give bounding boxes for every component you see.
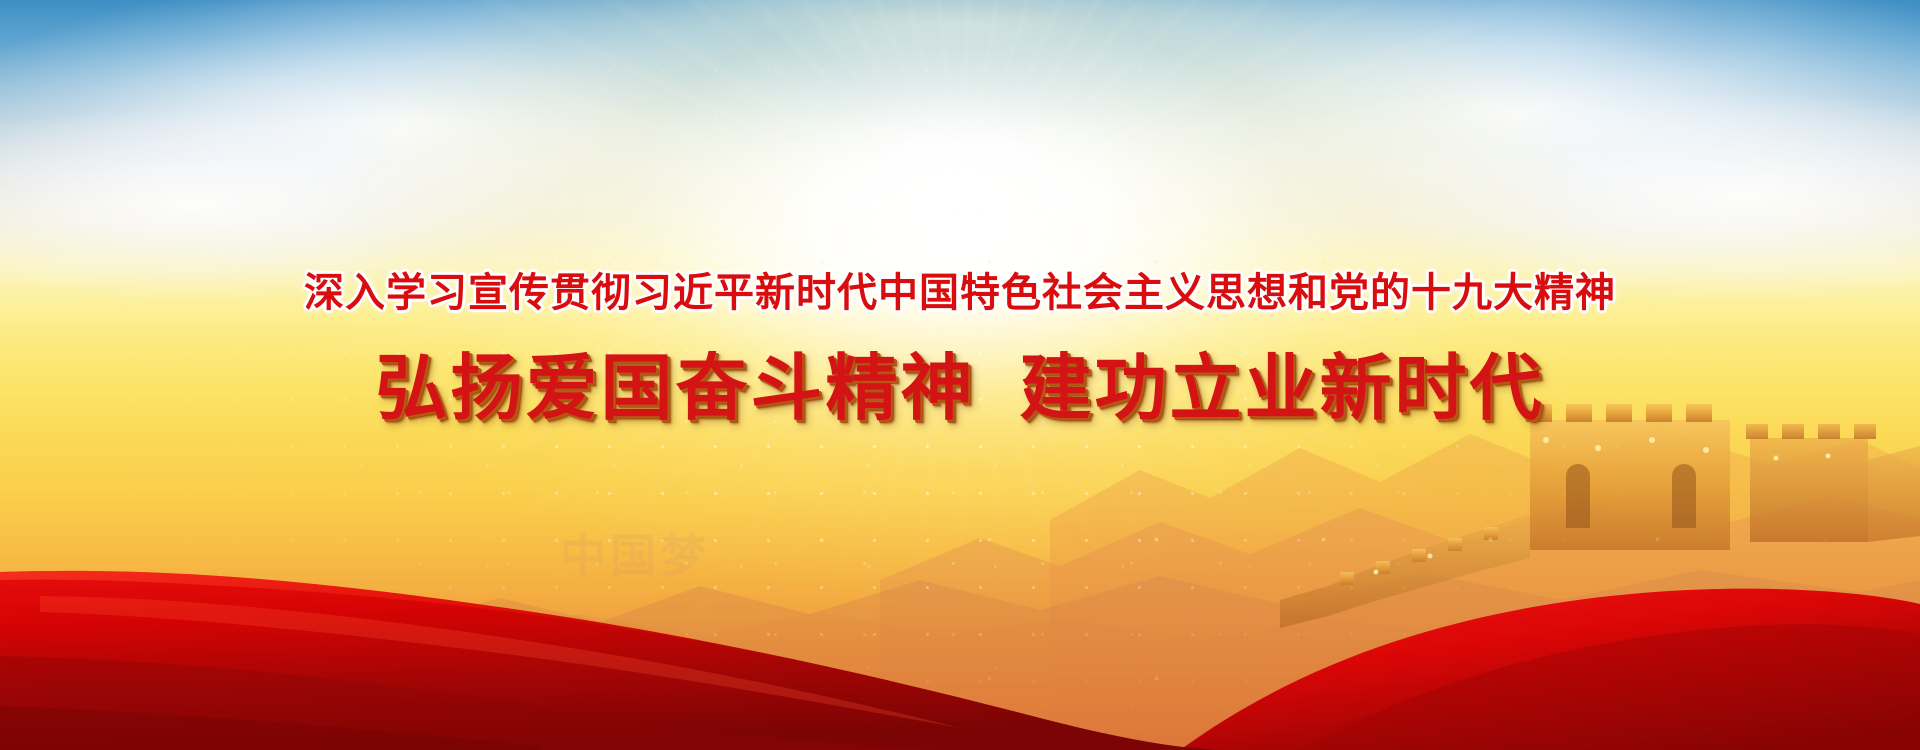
main-slogan-line: 弘扬爱国奋斗精神建功立业新时代 — [0, 351, 1920, 427]
red-silk-ribbon — [0, 420, 1920, 750]
headline-block: 深入学习宣传贯彻习近平新时代中国特色社会主义思想和党的十九大精神 弘扬爱国奋斗精… — [0, 270, 1920, 427]
subtitle-line: 深入学习宣传贯彻习近平新时代中国特色社会主义思想和党的十九大精神 — [0, 270, 1920, 317]
slogan-part-right: 建功立业新时代 — [1020, 346, 1545, 430]
slogan-part-left: 弘扬爱国奋斗精神 — [375, 346, 975, 430]
propaganda-banner: 中国梦 — [0, 0, 1920, 750]
